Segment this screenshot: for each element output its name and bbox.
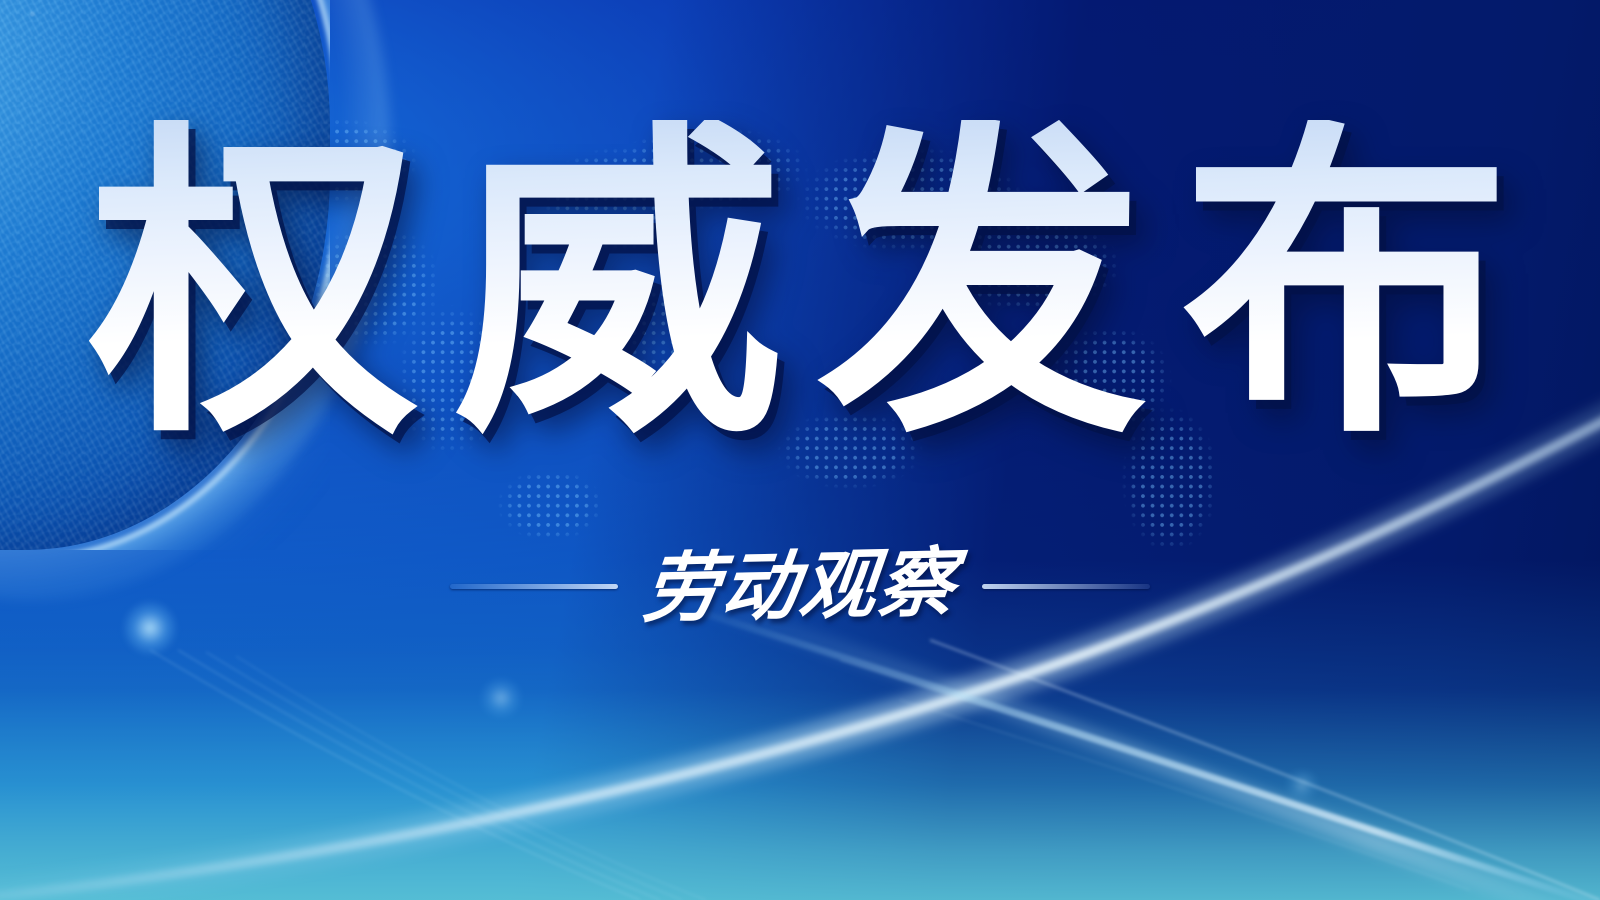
title-char-3: 发 <box>817 120 1147 450</box>
banner-subtitle-row: 劳动观察 <box>0 548 1600 624</box>
light-streak-thin-icon <box>930 640 1600 900</box>
subtitle-rule-left <box>450 584 618 589</box>
title-char-1: 权 <box>89 120 419 450</box>
banner-canvas: 权 威 发 布 劳动观察 <box>0 0 1600 900</box>
banner-title: 权 威 发 布 <box>0 120 1600 450</box>
title-char-4: 布 <box>1181 120 1511 450</box>
banner-subtitle: 劳动观察 <box>640 545 960 628</box>
title-char-2: 威 <box>453 120 783 450</box>
subtitle-rule-right <box>982 584 1150 589</box>
